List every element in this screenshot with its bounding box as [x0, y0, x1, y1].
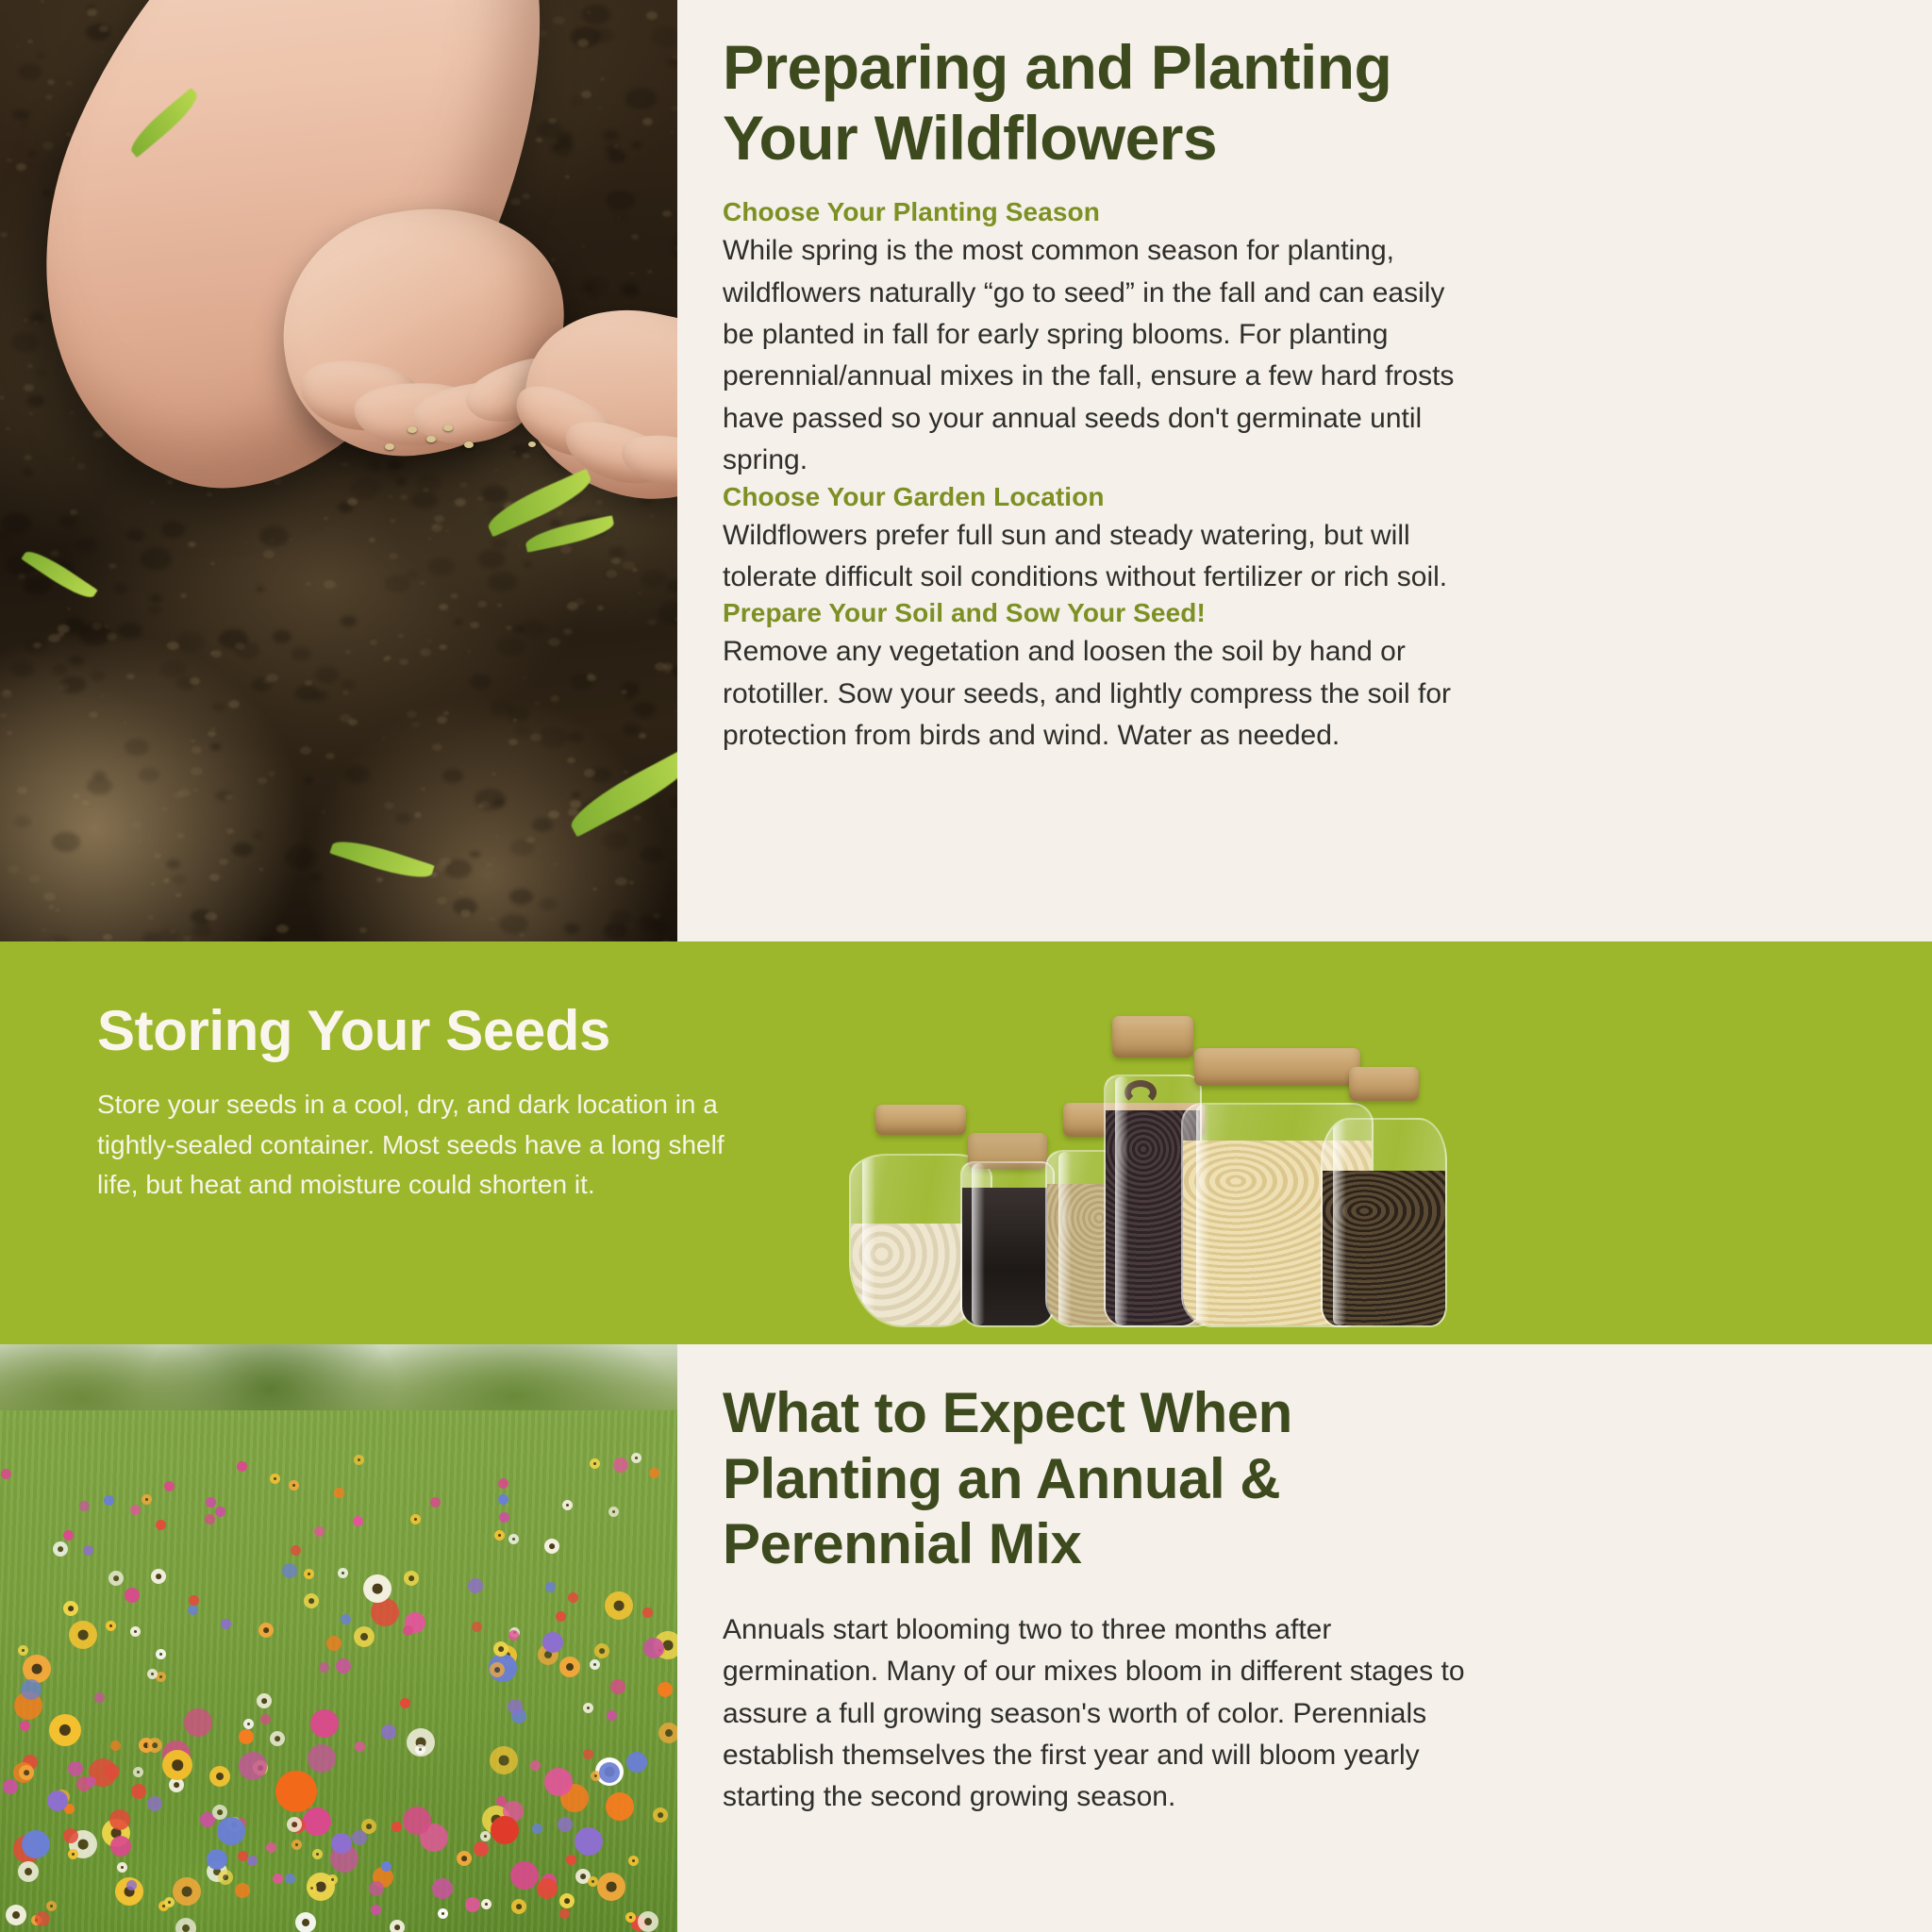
page-title: Preparing and Planting Your Wildflowers: [723, 32, 1468, 173]
expect-text-column: What to Expect When Planting an Annual &…: [723, 1344, 1932, 1932]
planting-text-column: Preparing and Planting Your Wildflowers …: [723, 0, 1932, 941]
section-preparing-and-planting: Preparing and Planting Your Wildflowers …: [0, 0, 1932, 941]
paragraph-prepare-soil: Remove any vegetation and loosen the soi…: [723, 631, 1468, 757]
paragraph-garden-location: Wildflowers prefer full sun and steady w…: [723, 515, 1468, 599]
storing-paragraph: Store your seeds in a cool, dry, and dar…: [97, 1085, 739, 1206]
planting-block-soil: Prepare Your Soil and Sow Your Seed! Rem…: [723, 598, 1877, 757]
expect-title: What to Expect When Planting an Annual &…: [723, 1380, 1496, 1577]
storing-title: Storing Your Seeds: [97, 998, 610, 1063]
wildflower-meadow-photo: [0, 1344, 677, 1932]
jar-black-sunflower-seeds: [1321, 1093, 1447, 1327]
hand-sowing-seeds-photo: [0, 0, 677, 941]
infographic-page: Preparing and Planting Your Wildflowers …: [0, 0, 1932, 1932]
planting-block-season: Choose Your Planting Season While spring…: [723, 197, 1877, 481]
section-what-to-expect: What to Expect When Planting an Annual &…: [0, 1344, 1932, 1932]
planting-block-location: Choose Your Garden Location Wildflowers …: [723, 482, 1877, 599]
subheading-prepare-soil: Prepare Your Soil and Sow Your Seed!: [723, 598, 1877, 628]
subheading-garden-location: Choose Your Garden Location: [723, 482, 1877, 512]
seed-jars-photo: [849, 941, 1481, 1344]
expect-paragraph: Annuals start blooming two to three mont…: [723, 1609, 1468, 1819]
jar-black-seeds: [960, 1148, 1055, 1327]
section-storing-your-seeds: Storing Your Seeds Store your seeds in a…: [0, 941, 1932, 1344]
subheading-planting-season: Choose Your Planting Season: [723, 197, 1877, 227]
paragraph-planting-season: While spring is the most common season f…: [723, 230, 1468, 481]
